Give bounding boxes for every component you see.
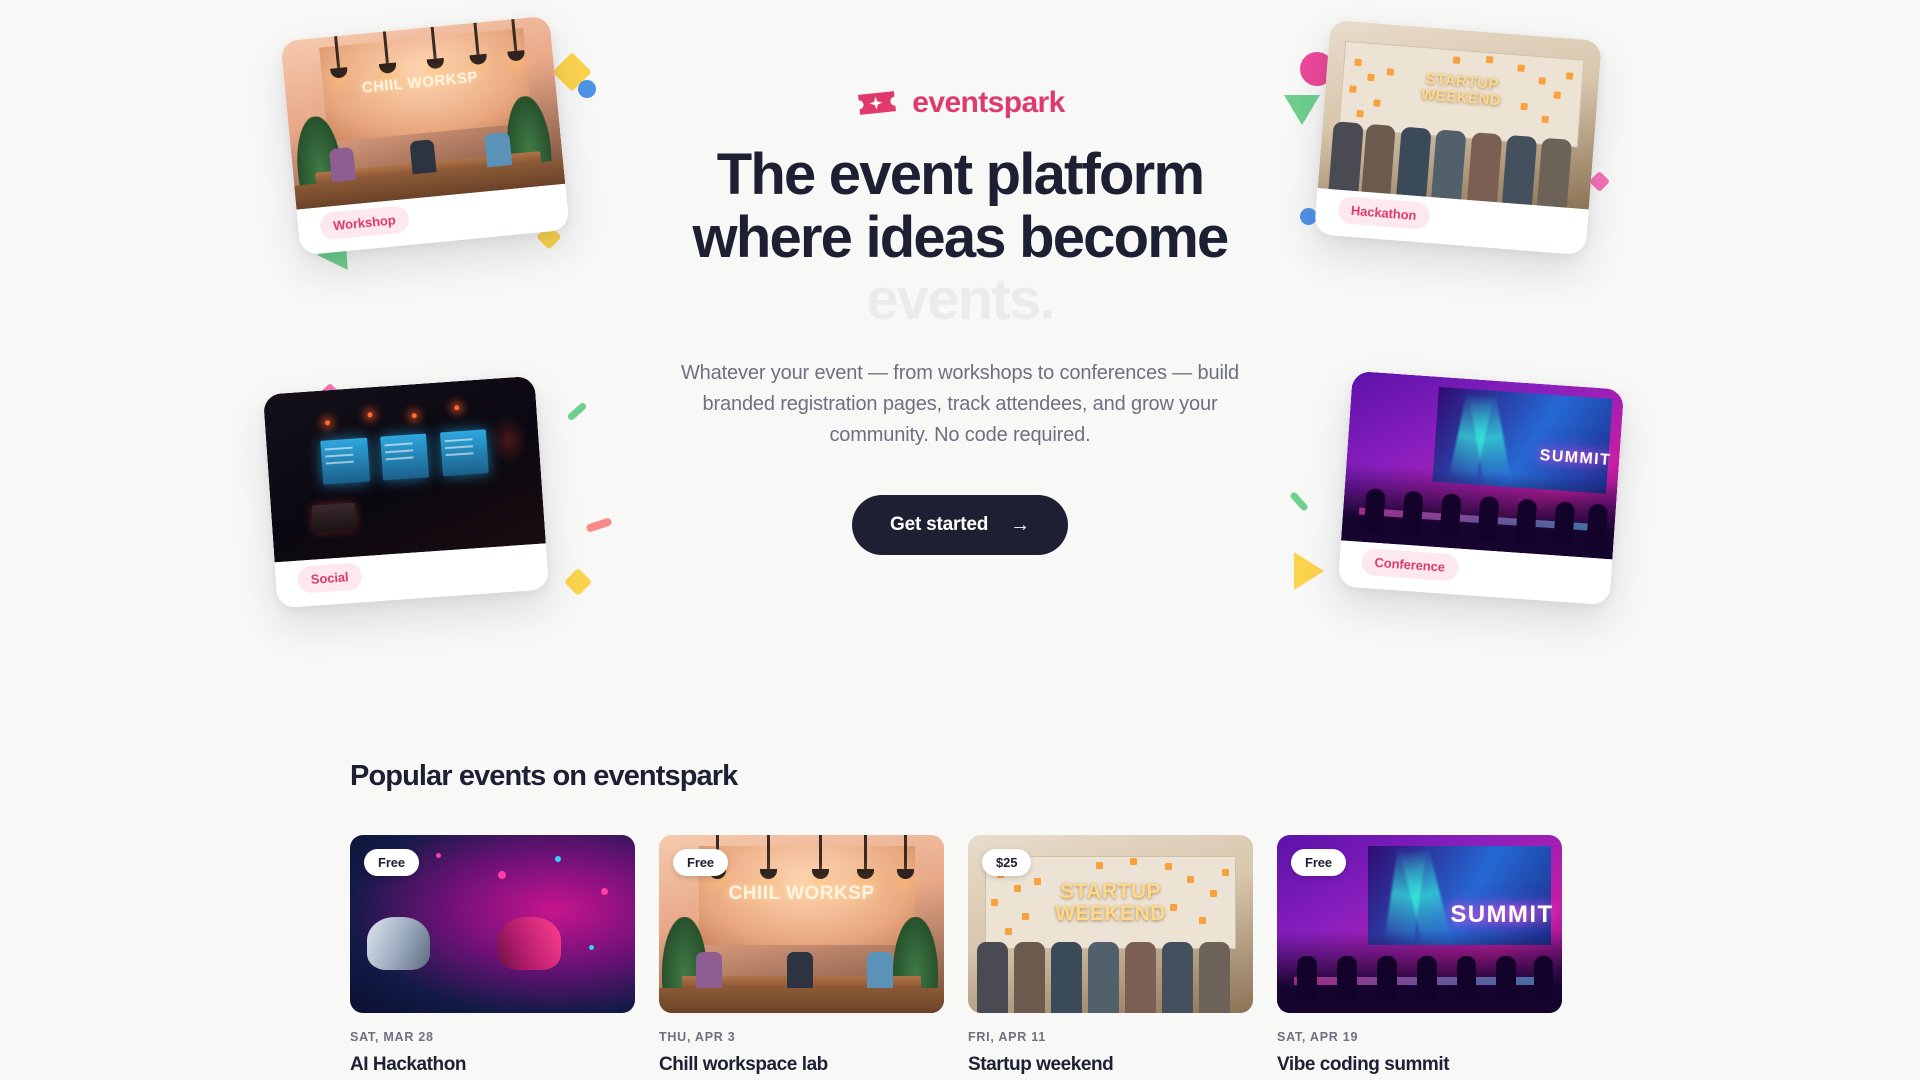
workshop-photo: CHIIL WORKSP: [280, 16, 565, 210]
hero-card-workshop[interactable]: CHIIL WORKSP Workshop: [280, 16, 569, 256]
brand-name: eventspark: [912, 88, 1064, 118]
popular-events-section: Popular events on eventspark Free: [0, 760, 1920, 1077]
event-card[interactable]: Free: [350, 835, 635, 1077]
get-started-button[interactable]: Get started →: [852, 495, 1068, 555]
hackathon-photo: STARTUP WEEKEND: [1318, 20, 1602, 210]
decor-yellow-triangle-right: [1294, 552, 1324, 590]
decor-green-triangle-right: [1284, 95, 1320, 125]
event-title: Vibe coding summit: [1277, 1053, 1562, 1077]
hero-content: eventspark The event platform where idea…: [640, 88, 1280, 555]
event-thumbnail: Free SUMMIT: [1277, 835, 1562, 1013]
decor-blue-circle: [578, 80, 596, 98]
event-price-badge: $25: [982, 849, 1031, 876]
photo-sign-text: CHIIL WORKSP: [710, 883, 892, 905]
get-started-label: Get started: [890, 514, 988, 536]
decor-green-slash-right: [1289, 491, 1309, 512]
hero-card-badge: Social: [297, 562, 362, 593]
conference-photo: SUMMIT: [1341, 371, 1624, 560]
decor-yellow-square-low: [564, 568, 592, 596]
event-date: FRI, APR 11: [968, 1030, 1253, 1044]
event-grid: Free: [350, 835, 1570, 1077]
decor-green-slash-left: [566, 402, 587, 422]
event-thumbnail: Free: [350, 835, 635, 1013]
photo-sign-text: SUMMIT: [1450, 901, 1553, 929]
hero-section: CHIIL WORKSP Workshop: [0, 0, 1920, 760]
event-title: Chill workspace lab: [659, 1053, 944, 1077]
section-title: Popular events on eventspark: [350, 760, 1570, 793]
event-price-badge: Free: [1291, 849, 1346, 876]
event-date: THU, APR 3: [659, 1030, 944, 1044]
event-thumbnail: $25: [968, 835, 1253, 1013]
event-card[interactable]: $25: [968, 835, 1253, 1077]
hero-card-social[interactable]: Social: [263, 376, 549, 608]
photo-sign-line1: STARTUP: [1060, 880, 1161, 903]
hero-card-conference[interactable]: SUMMIT Conference: [1338, 371, 1624, 605]
headline-line-1: The event platform: [717, 142, 1203, 207]
headline-line-2: where ideas become: [693, 205, 1228, 270]
landing-page: CHIIL WORKSP Workshop: [0, 0, 1920, 1080]
event-title: Startup weekend: [968, 1053, 1253, 1077]
event-thumbnail: Free CHIIL WORKSP: [659, 835, 944, 1013]
ticket-sparkle-icon: [855, 89, 899, 117]
hero-card-badge: Conference: [1361, 548, 1459, 582]
event-price-badge: Free: [364, 849, 419, 876]
arrow-right-icon: →: [1010, 515, 1030, 535]
decor-pink-square-right: [1589, 171, 1610, 192]
event-title: AI Hackathon: [350, 1053, 635, 1077]
hero-card-badge: Workshop: [319, 205, 410, 240]
event-card[interactable]: Free CHIIL WORKSP: [659, 835, 944, 1077]
headline-line-3: events.: [866, 267, 1053, 332]
event-date: SAT, APR 19: [1277, 1030, 1562, 1044]
event-card[interactable]: Free SUMMIT: [1277, 835, 1562, 1077]
social-photo: [263, 376, 546, 563]
hero-card-badge: Hackathon: [1337, 196, 1430, 230]
decor-coral-slash: [585, 517, 612, 533]
event-date: SAT, MAR 28: [350, 1030, 635, 1044]
photo-sign-line2: WEEKEND: [1055, 902, 1166, 925]
hero-card-hackathon[interactable]: STARTUP WEEKEND Hackathon: [1314, 20, 1602, 256]
brand-logo: eventspark: [640, 88, 1280, 118]
event-price-badge: Free: [673, 849, 728, 876]
page-title: The event platform where ideas become ev…: [640, 144, 1280, 332]
hero-subhead: Whatever your event — from workshops to …: [640, 358, 1280, 451]
